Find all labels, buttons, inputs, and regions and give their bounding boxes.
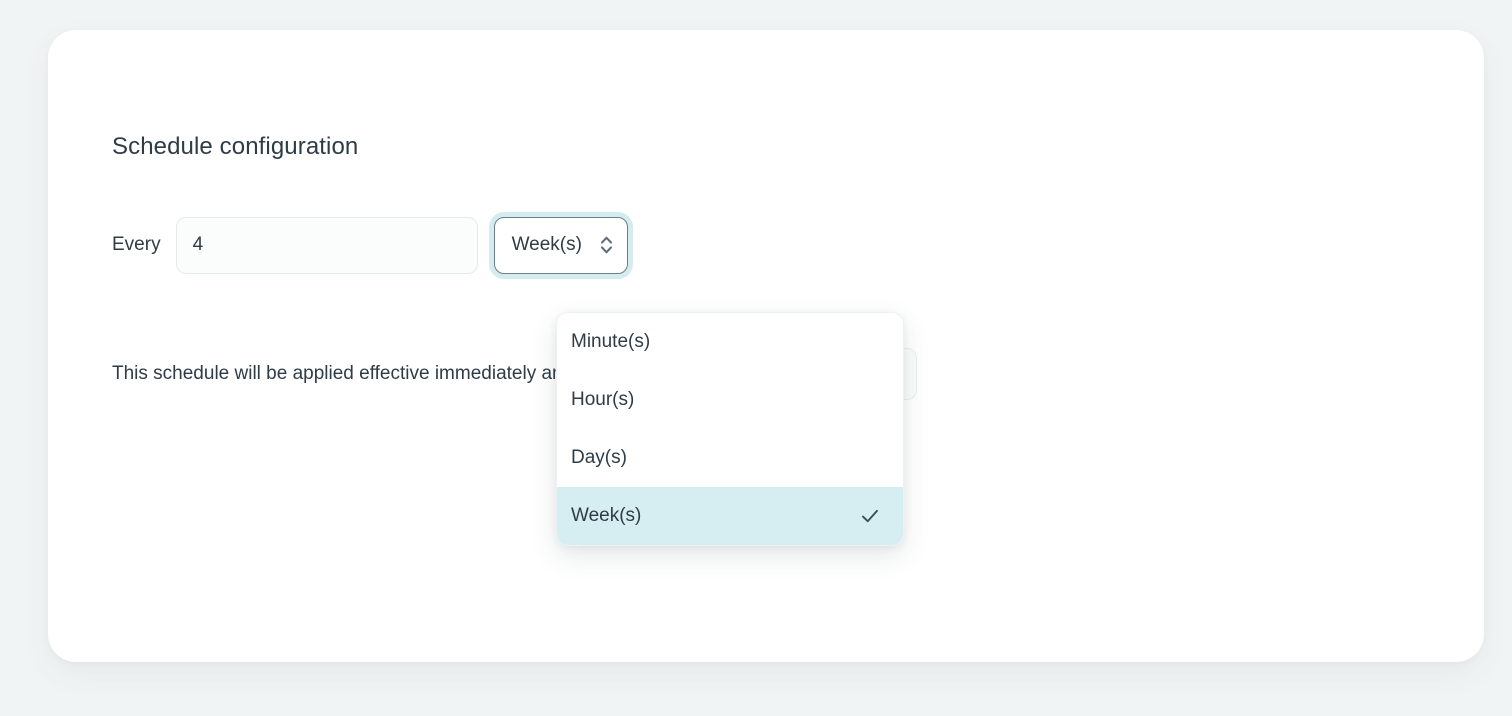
dropdown-option[interactable]: Minute(s): [557, 313, 903, 371]
chevron-up-down-icon[interactable]: [598, 232, 615, 258]
dropdown-option-label: Day(s): [571, 447, 627, 469]
app-root: Schedule configuration Every Week(s) Thi…: [0, 0, 1512, 716]
interval-value-input[interactable]: [176, 217, 478, 274]
page-title: Schedule configuration: [112, 131, 358, 163]
dropdown-option[interactable]: Week(s): [557, 487, 903, 545]
unit-select-value: Week(s): [512, 234, 582, 256]
unit-select-dropdown[interactable]: Minute(s)Hour(s)Day(s)Week(s): [556, 312, 904, 546]
dropdown-option-label: Week(s): [571, 505, 641, 527]
sentence-lead-text: This schedule will be applied effective …: [112, 361, 596, 387]
dropdown-option-label: Hour(s): [571, 389, 634, 411]
interval-row: Every Week(s): [112, 216, 628, 274]
dropdown-option-label: Minute(s): [571, 331, 650, 353]
unit-select[interactable]: Week(s): [494, 217, 628, 274]
check-icon: [859, 505, 881, 527]
unit-select-wrapper: Week(s): [494, 217, 628, 274]
dropdown-option[interactable]: Hour(s): [557, 371, 903, 429]
every-label: Every: [112, 233, 161, 257]
dropdown-option[interactable]: Day(s): [557, 429, 903, 487]
